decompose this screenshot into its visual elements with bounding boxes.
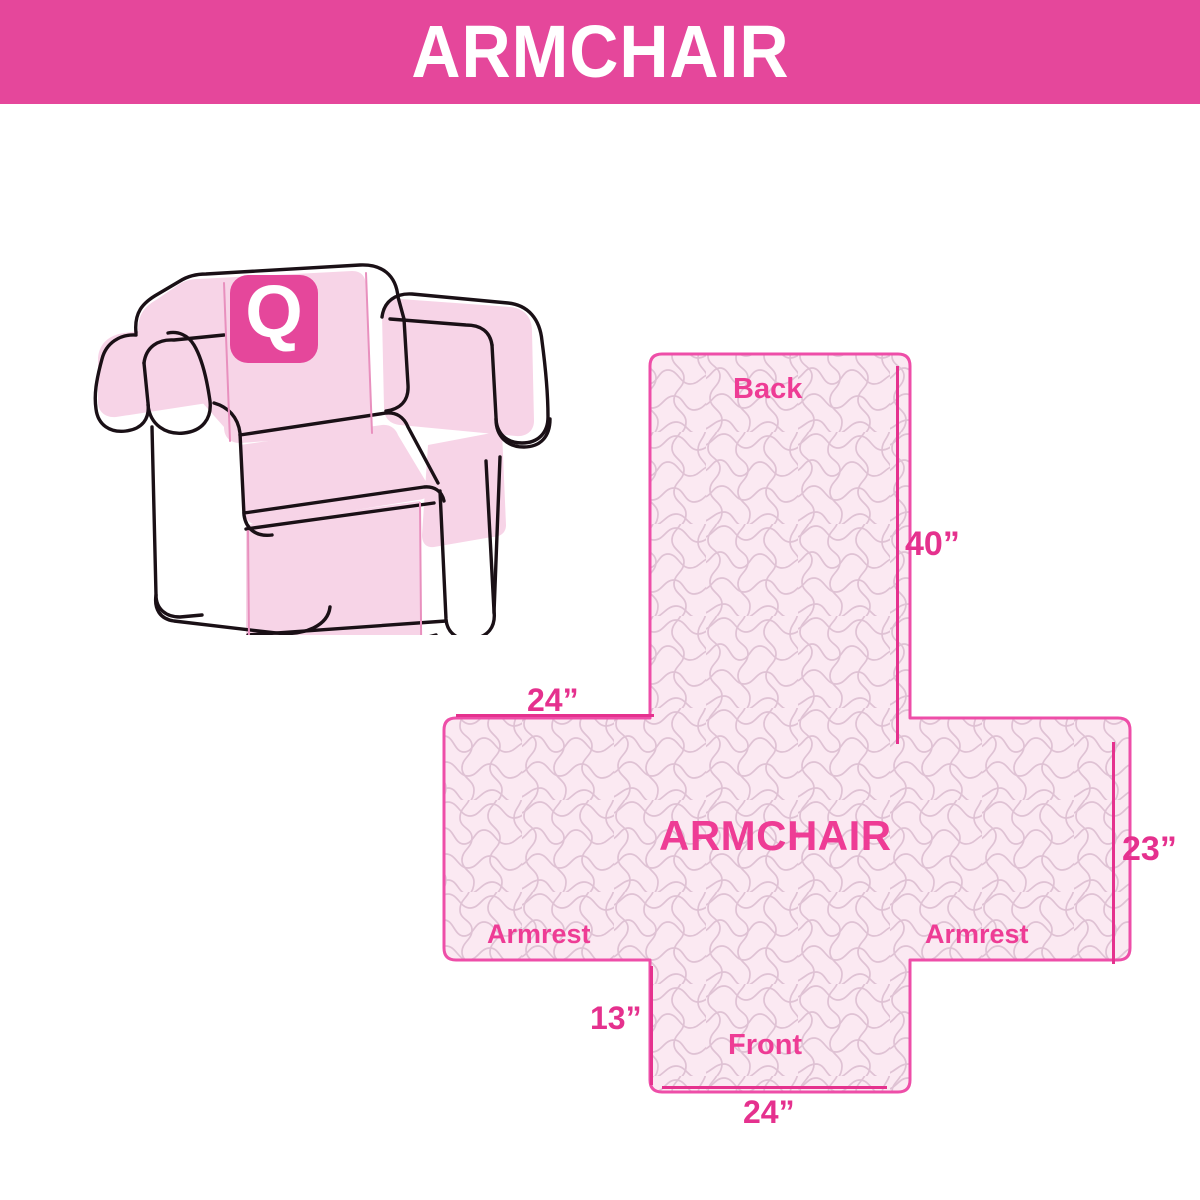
panel-label-armrest-left: Armrest [487, 919, 591, 950]
dimension-rule-front-width [662, 1086, 887, 1089]
q-logo-badge: Q [230, 270, 318, 363]
product-dimension-infographic: ARMCHAIR [0, 0, 1200, 1200]
cover-outline [444, 354, 1130, 1092]
dimension-label-front-height: 13” [590, 1000, 642, 1037]
flat-pattern-diagram [430, 340, 1200, 1140]
panel-label-center: ARMCHAIR [659, 812, 892, 860]
dimension-rule-back-height [896, 366, 899, 744]
dimension-rule-front-height [650, 966, 653, 1085]
svg-text:Q: Q [245, 270, 303, 353]
dimension-label-center-height: 23” [1122, 830, 1177, 869]
panel-label-front: Front [728, 1029, 802, 1062]
dimension-label-back-width: 24” [527, 682, 579, 719]
dimension-rule-center-height [1112, 742, 1115, 964]
dimension-label-front-width: 24” [743, 1094, 795, 1131]
panel-label-back: Back [733, 373, 802, 406]
header-banner: ARMCHAIR [0, 0, 1200, 104]
page-title: ARMCHAIR [411, 15, 789, 89]
panel-label-armrest-right: Armrest [925, 919, 1029, 950]
dimension-label-back-height: 40” [905, 525, 960, 564]
